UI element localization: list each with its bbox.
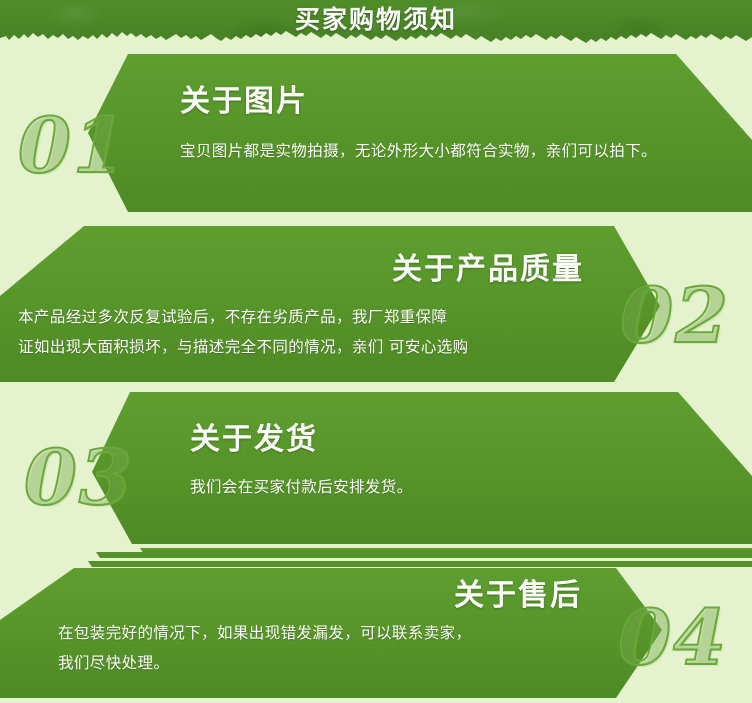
section-about-pictures: 01 关于图片 宝贝图片都是实物拍摄，无论外形大小都符合实物，亲们可以拍下。 (0, 48, 752, 218)
page-title: 买家购物须知 (0, 0, 752, 40)
section-about-after-sales: 04 关于售后 在包装完好的情况下，如果出现错发漏发，可以联系卖家， 我们尽快处… (0, 556, 752, 703)
divider-stripe-top (0, 544, 752, 551)
buyer-shopping-notice-page: 买家购物须知 01 关于图片 宝贝图片都是实物拍摄，无论外形大小都符合实物，亲们… (0, 0, 752, 703)
page-header: 买家购物须知 (0, 0, 752, 48)
section-body-03: 我们会在买家付款后安排发货。 (190, 472, 413, 502)
section-body-04: 在包装完好的情况下，如果出现错发漏发，可以联系卖家， 我们尽快处理。 (58, 618, 471, 678)
section-title-03: 关于发货 (190, 414, 318, 458)
section-body-02: 本产品经过多次反复试验后，不存在劣质产品，我厂郑重保障 证如出现大面积损坏，与描… (18, 302, 469, 362)
section-title-02: 关于产品质量 (392, 244, 584, 288)
section-about-shipping: 03 关于发货 我们会在买家付款后安排发货。 (0, 392, 752, 554)
section-number-02: 02 (620, 278, 730, 354)
divider-stripe-bottom (0, 553, 752, 560)
section-number-04: 04 (618, 600, 728, 676)
section-about-product-quality: 02 关于产品质量 本产品经过多次反复试验后，不存在劣质产品，我厂郑重保障 证如… (0, 222, 752, 390)
section-number-03: 03 (24, 440, 134, 516)
section-title-01: 关于图片 (180, 76, 308, 120)
section-body-01: 宝贝图片都是实物拍摄，无论外形大小都符合实物，亲们可以拍下。 (180, 136, 657, 166)
section-number-01: 01 (18, 108, 128, 184)
section-title-04: 关于售后 (454, 570, 582, 614)
